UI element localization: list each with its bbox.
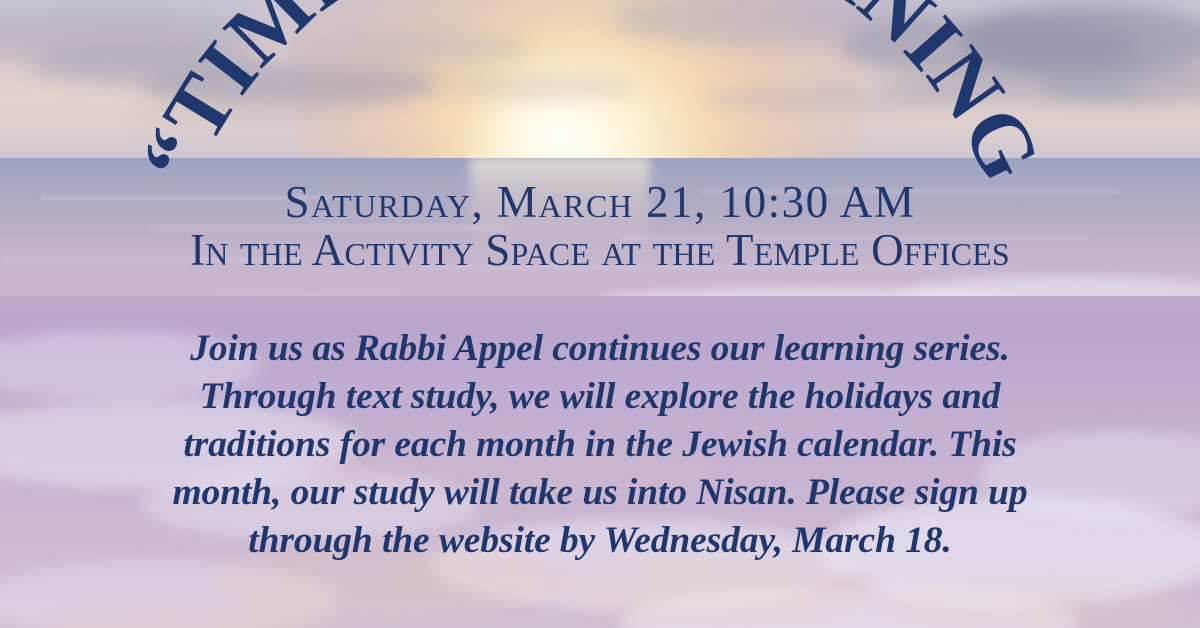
description-line: month, our study will take us into Nisan… (78, 469, 1122, 517)
event-flyer: “TIME” FOR LEARNING Saturday, March 21, … (0, 0, 1200, 628)
description-line: traditions for each month in the Jewish … (78, 421, 1122, 469)
event-description: Join us as Rabbi Appel continues our lea… (78, 325, 1122, 565)
event-location-line: In the Activity Space at the Temple Offi… (0, 224, 1200, 276)
description-line: Through text study, we will explore the … (78, 373, 1122, 421)
description-line: Join us as Rabbi Appel continues our lea… (78, 325, 1122, 373)
description-line: through the website by Wednesday, March … (78, 517, 1122, 565)
headline-arch-text: “TIME” FOR LEARNING (121, 0, 1060, 196)
event-date-line: Saturday, March 21, 10:30 AM (0, 176, 1200, 228)
